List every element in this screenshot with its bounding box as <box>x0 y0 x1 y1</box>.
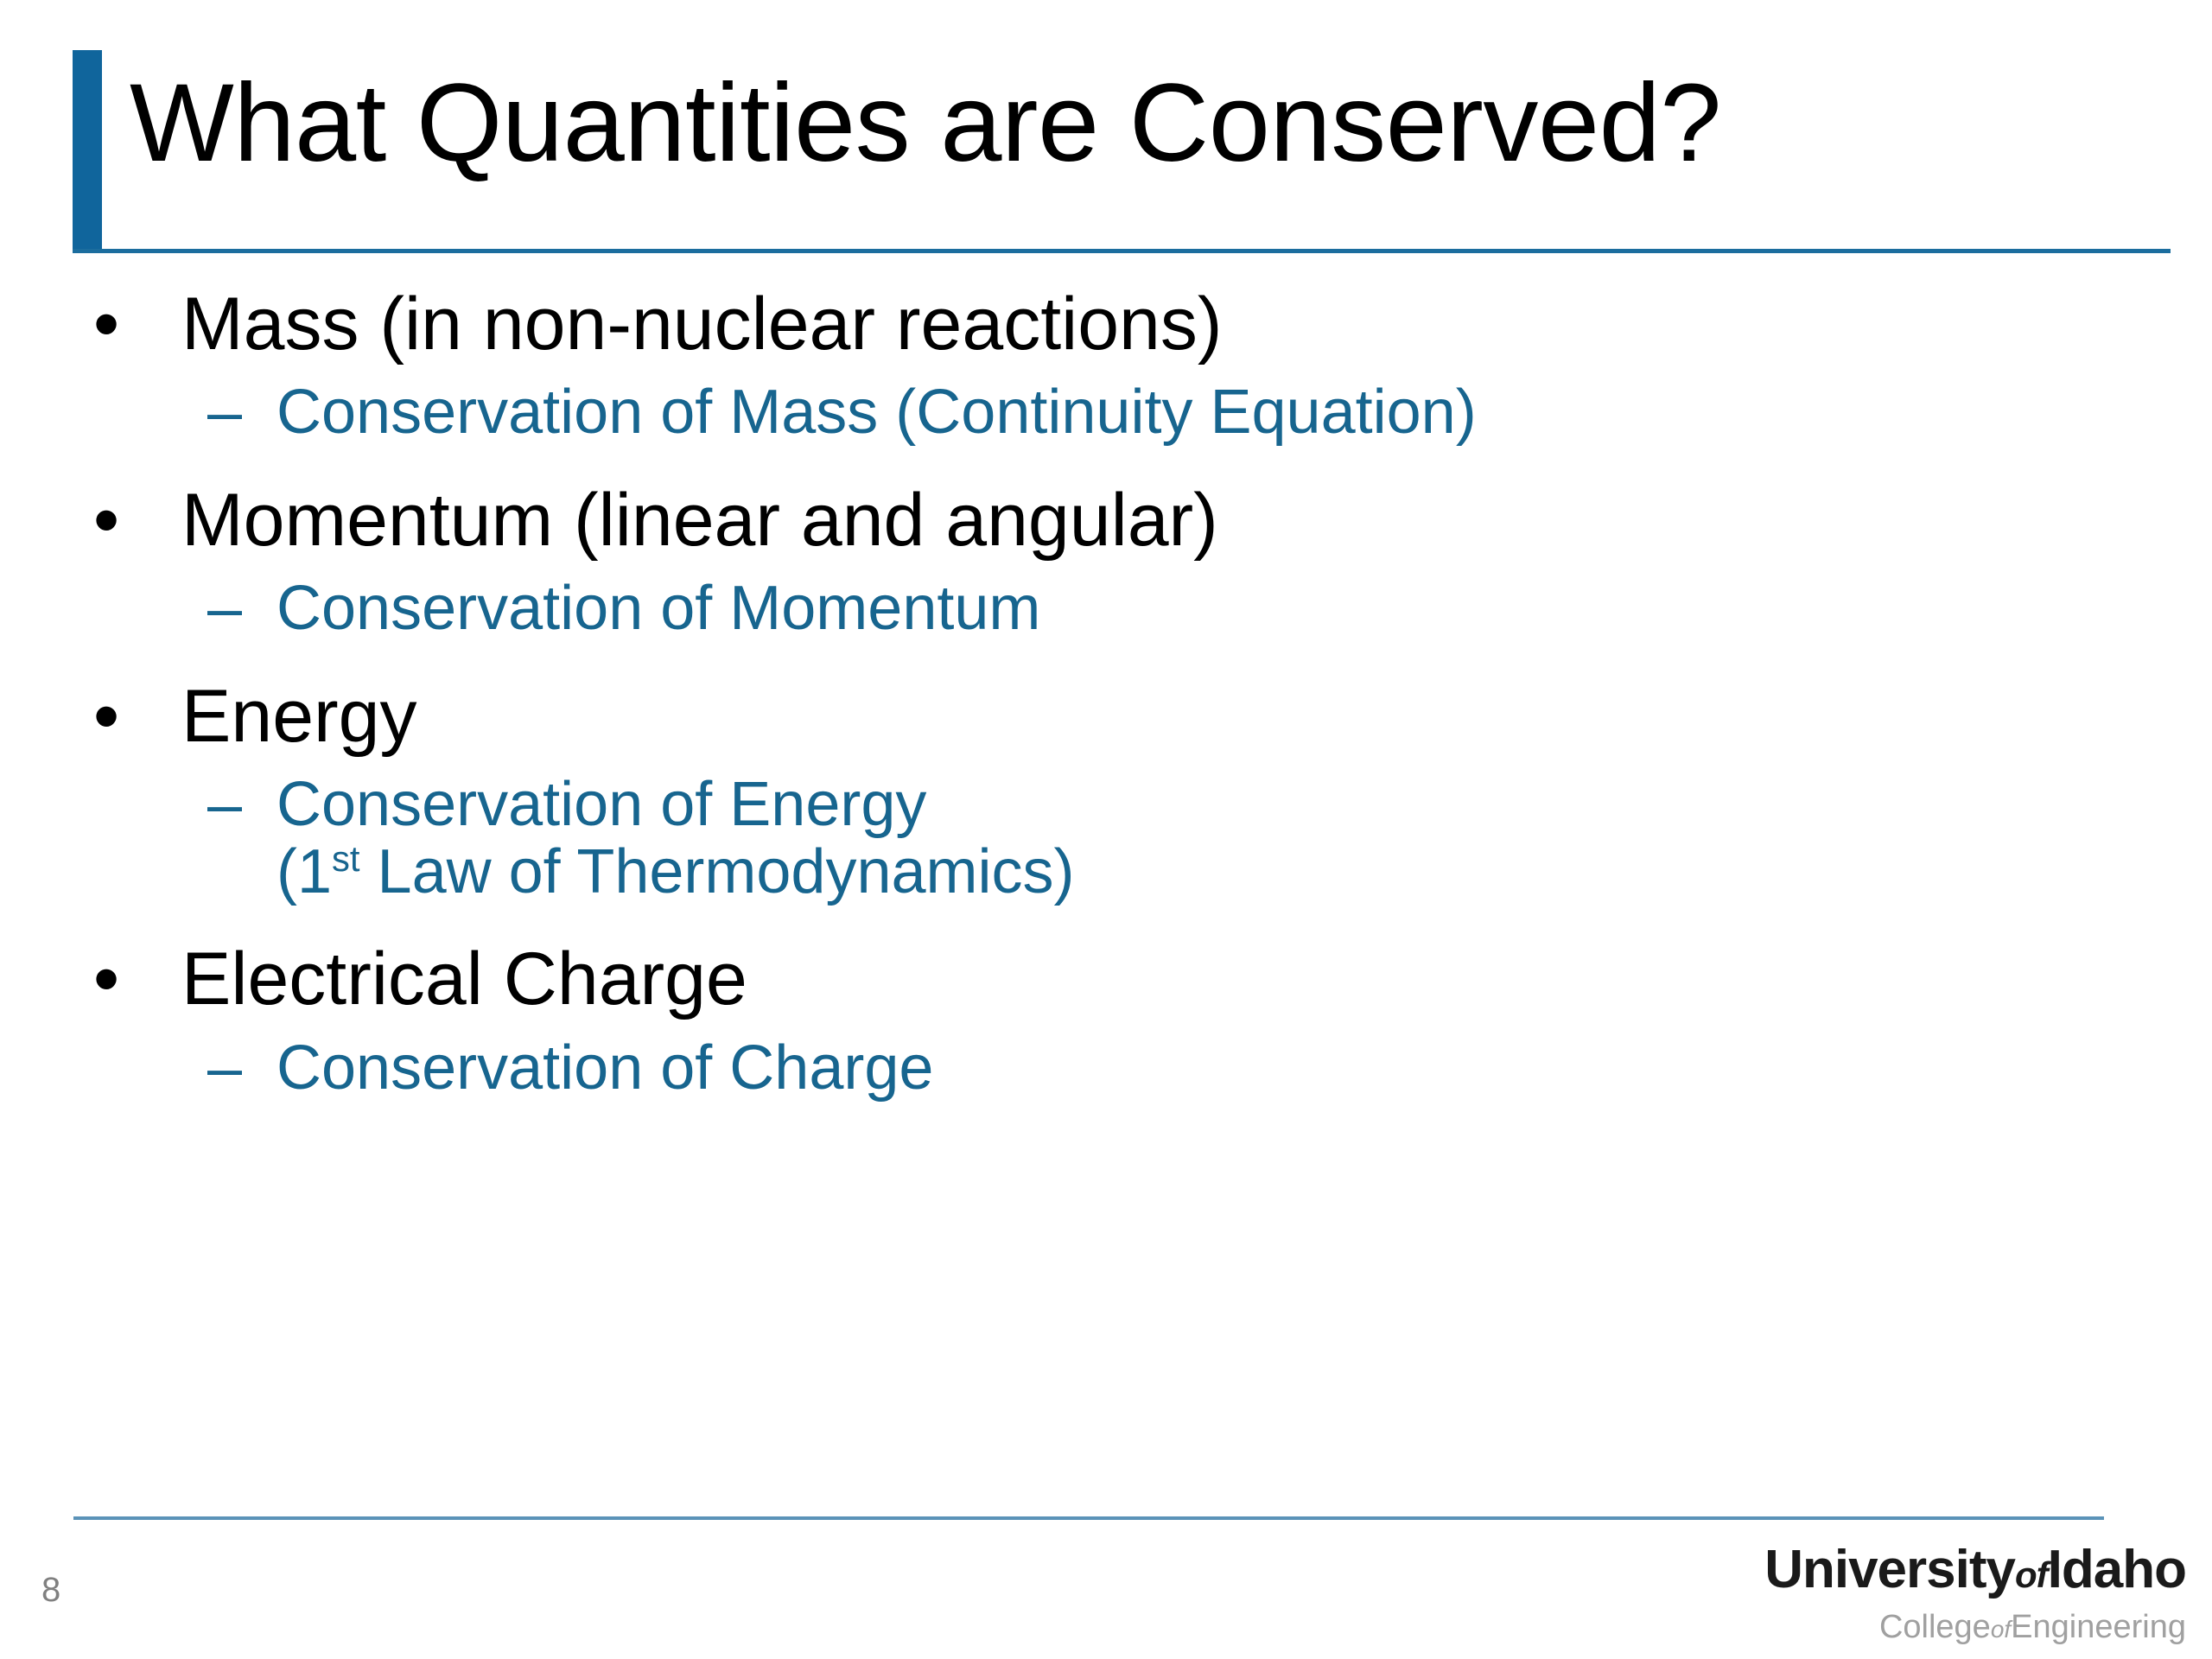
bullet-label: Electrical Charge <box>181 938 747 1020</box>
bullet-marker-icon: • <box>93 677 119 756</box>
bullet-marker-icon: • <box>93 940 119 1019</box>
bullet-item-mass: • Mass (in non-nuclear reactions) <box>0 285 2212 364</box>
dash-marker-icon: – <box>207 379 242 447</box>
bullet-label: Energy <box>181 675 417 758</box>
subbullet-label: Conservation of Momentum <box>276 574 1040 643</box>
dash-marker-icon: – <box>207 575 242 643</box>
slide: What Quantities are Conserved? • Mass (i… <box>0 0 2212 1659</box>
subbullet-label: Conservation of Energy <box>276 770 926 839</box>
first-law-prefix: (1 <box>276 837 332 906</box>
logo-university-word: University <box>1764 1540 2015 1599</box>
logo-sub-of-word: of <box>1991 1616 2011 1643</box>
subbullet-label: Conservation of Charge <box>276 1033 933 1103</box>
logo-primary-text: UniversityofIdaho <box>1764 1543 2186 1597</box>
page-title: What Quantities are Conserved? <box>130 67 2169 181</box>
footer-divider <box>73 1516 2104 1520</box>
subbullet-item-conservation-of-momentum: – Conservation of Momentum <box>0 575 2212 643</box>
bullet-item-momentum: • Momentum (linear and angular) <box>0 481 2212 560</box>
subbullet-item-conservation-of-energy: – Conservation of Energy (1st Law of The… <box>0 772 2212 906</box>
bullet-label: Momentum (linear and angular) <box>181 479 1218 562</box>
dash-marker-icon: – <box>207 1035 242 1103</box>
logo-of-word: of <box>2015 1554 2048 1595</box>
logo-college-word: College <box>1879 1609 1991 1645</box>
logo-secondary-text: CollegeofEngineering <box>1764 1611 2186 1643</box>
first-law-rest: Law of Thermodynamics) <box>360 837 1075 906</box>
subbullet-label: Conservation of Mass (Continuity Equatio… <box>276 378 1477 447</box>
bullet-marker-icon: • <box>93 285 119 364</box>
content-bullet-list: • Mass (in non-nuclear reactions) – Cons… <box>0 285 2212 1117</box>
subbullet-label-line2: (1st Law of Thermodynamics) <box>276 839 2212 906</box>
logo-engineering-word: Engineering <box>2011 1609 2186 1645</box>
logo-idaho-word: Idaho <box>2048 1540 2186 1599</box>
bullet-item-electrical-charge: • Electrical Charge <box>0 940 2212 1019</box>
dash-marker-icon: – <box>207 772 242 839</box>
bullet-label: Mass (in non-nuclear reactions) <box>181 283 1223 365</box>
ordinal-suffix: st <box>332 838 359 879</box>
title-divider <box>73 249 2171 253</box>
bullet-item-energy: • Energy <box>0 677 2212 756</box>
subbullet-item-conservation-of-mass: – Conservation of Mass (Continuity Equat… <box>0 379 2212 447</box>
subbullet-item-conservation-of-charge: – Conservation of Charge <box>0 1035 2212 1103</box>
bullet-marker-icon: • <box>93 481 119 560</box>
page-number: 8 <box>41 1573 60 1607</box>
university-of-idaho-logo: UniversityofIdaho CollegeofEngineering <box>1764 1543 2186 1643</box>
title-accent-bar <box>73 50 102 251</box>
